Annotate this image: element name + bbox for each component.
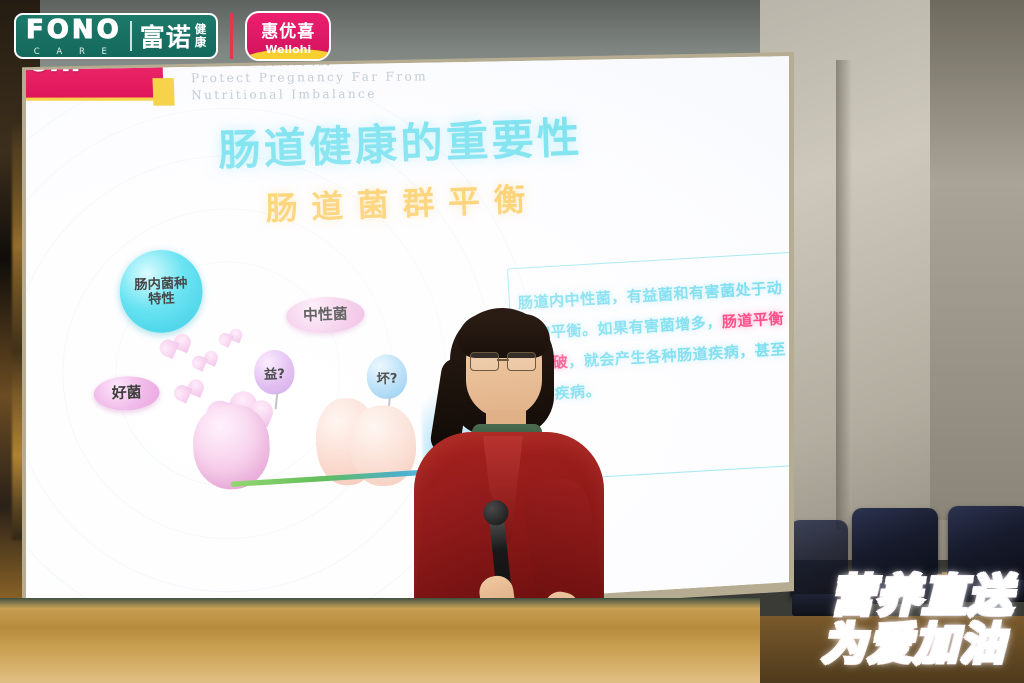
slide-header-accent: [152, 78, 174, 106]
brand-cn-suffix: 健 康: [195, 23, 207, 49]
slide-header-en-line1: Protect Pregnancy Far From: [191, 68, 428, 87]
slide-header-en: Protect Pregnancy Far From Nutritional I…: [191, 68, 428, 104]
brand-separator: [230, 13, 233, 59]
care-wordmark: C A R E: [26, 47, 122, 57]
far-wall: [930, 0, 1024, 520]
wellohi-en: Wellohi: [265, 43, 311, 56]
watermark-line2: 为爱加油: [822, 608, 1006, 672]
slide-header-en-line2: Nutritional Imbalance: [191, 85, 428, 104]
wellohi-badge: 惠优喜 Wellohi: [245, 11, 331, 61]
fono-care-logo: FONO C A R E 富诺 健 康: [14, 13, 218, 59]
wall-corner-edge: [836, 60, 852, 530]
stage-wood-baseboard: [0, 598, 760, 683]
wellohi-cn: 惠优喜: [261, 17, 315, 42]
fono-wordmark-group: FONO C A R E: [26, 15, 122, 57]
logo-divider: [130, 21, 132, 51]
bubble-cyan-line2: 特性: [135, 290, 189, 307]
brand-logo-bar: FONO C A R E 富诺 健 康 惠优喜 Wellohi: [14, 12, 331, 60]
brand-cn-suffix-line2: 康: [195, 36, 207, 49]
brand-cn-name: 富诺: [140, 18, 192, 54]
photo-scene: ohi 让孕育远离营养失衡 Protect Pregnancy Far From…: [0, 0, 1024, 683]
speaker-glasses: [470, 352, 536, 369]
fono-wordmark: FONO: [26, 15, 122, 45]
